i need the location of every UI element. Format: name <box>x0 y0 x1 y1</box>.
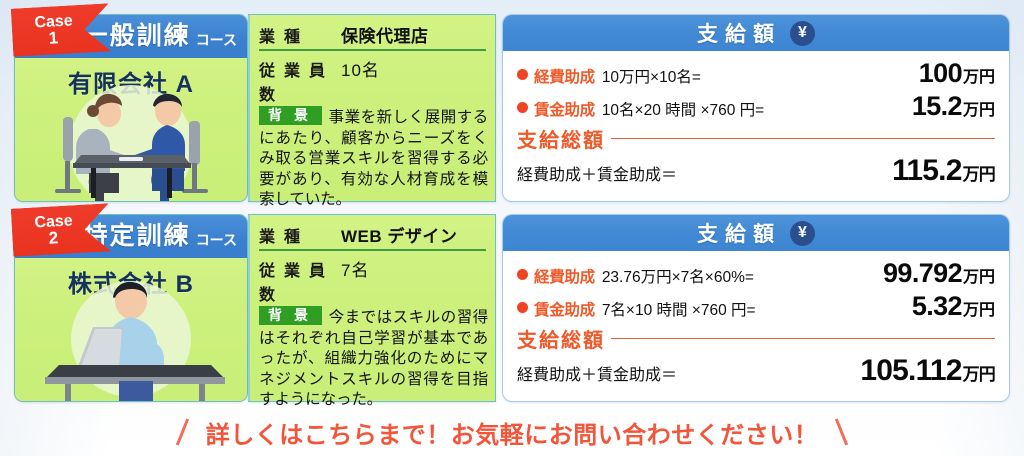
course-suffix: コース <box>196 30 237 50</box>
payment-row-amount: 5.32万円 <box>912 291 995 322</box>
amount-unit: 万円 <box>963 102 995 119</box>
footer-callout: 詳しくはこちらまで！お気軽にお問い合わせください！ <box>0 412 1024 452</box>
bullet-dot-icon <box>517 102 528 113</box>
payment-row-label: 経費助成 <box>534 65 595 87</box>
total-title: 支給総額 <box>517 124 605 153</box>
payment-row-amount: 15.2万円 <box>912 91 995 122</box>
background-badge: 背景 <box>259 106 322 125</box>
case-ribbon-1: Case 1 <box>11 3 112 56</box>
total-title: 支給総額 <box>517 324 605 353</box>
payment-row-label: 賃金助成 <box>534 98 595 120</box>
industry-label: 業種 <box>259 223 335 247</box>
employees-label: 従業員数 <box>259 257 335 305</box>
bullet-dot-icon <box>517 69 528 80</box>
case-card-1: Case 1 一般訓練 コース 有限会社 A <box>14 14 1010 202</box>
employees-row: 従業員数 7名 <box>257 254 488 306</box>
course-suffix: コース <box>196 230 237 250</box>
payment-row: 経費助成 23.76万円×7名×60%= 99.792万円 <box>517 258 995 289</box>
ribbon-shape: Case 2 <box>11 203 112 256</box>
payment-body: 経費助成 23.76万円×7名×60%= 99.792万円 賃金助成 7名×10… <box>503 251 1009 392</box>
total-amount: 105.112万円 <box>860 354 995 388</box>
payment-row: 経費助成 10万円×10名= 100万円 <box>517 58 995 89</box>
bullet-dot-icon <box>517 302 528 313</box>
payment-row-formula: 23.76万円×7名×60%= <box>602 265 883 287</box>
yen-symbol-icon: ¥ <box>790 21 815 46</box>
total-amount-number: 105.112 <box>860 354 961 387</box>
case-1-payment-panel: 支給額 ¥ 経費助成 10万円×10名= 100万円 賃金助成 10名×20 時… <box>502 14 1010 202</box>
payment-row-formula: 10名×20 時間 ×760 円= <box>602 98 912 120</box>
payment-row-amount: 100万円 <box>919 58 995 89</box>
payment-row-formula: 7名×10 時間 ×760 円= <box>602 298 912 320</box>
payment-row-amount: 99.792万円 <box>883 258 995 289</box>
amount-number: 99.792 <box>883 258 962 288</box>
total-header: 支給総額 <box>517 124 995 153</box>
amount-unit: 万円 <box>963 269 995 286</box>
employees-label: 従業員数 <box>259 57 335 105</box>
case-2-info-panel: 業種 WEB デザイン 従業員数 7名 背景今まではスキルの習得はそれぞれ自己学… <box>248 214 496 402</box>
payment-row-formula: 10万円×10名= <box>602 65 919 87</box>
industry-label: 業種 <box>259 23 335 47</box>
payment-header-title: 支給額 <box>697 218 781 248</box>
amount-unit: 万円 <box>963 302 995 319</box>
yen-symbol-icon: ¥ <box>790 221 815 246</box>
payment-header: 支給額 ¥ <box>503 215 1009 251</box>
total-row: 経費助成＋賃金助成＝ 105.112万円 <box>517 354 995 388</box>
industry-value: 保険代理店 <box>341 22 429 47</box>
employees-row: 従業員数 10名 <box>257 54 488 106</box>
case-2-company-area: 株式会社 B <box>15 258 247 401</box>
industry-value: WEB デザイン <box>341 222 457 247</box>
decorative-slash-right-icon <box>835 419 848 446</box>
payment-row: 賃金助成 10名×20 時間 ×760 円= 15.2万円 <box>517 91 995 122</box>
case-ribbon-2: Case 2 <box>11 203 112 256</box>
total-rule <box>611 338 995 340</box>
total-amount-unit: 万円 <box>963 365 995 384</box>
bullet-dot-icon <box>517 269 528 280</box>
employees-value: 10名 <box>341 56 380 81</box>
industry-row: 業種 保険代理店 <box>257 20 488 48</box>
decorative-slash-left-icon <box>176 419 189 446</box>
ribbon-number: 2 <box>48 229 58 247</box>
amount-unit: 万円 <box>963 69 995 86</box>
case-1-info-panel: 業種 保険代理店 従業員数 10名 背景事業を新しく展開するにあたり、顧客からニ… <box>248 14 496 202</box>
total-header: 支給総額 <box>517 324 995 353</box>
employees-value: 7名 <box>341 256 369 281</box>
total-rule <box>611 138 995 140</box>
background-badge: 背景 <box>259 306 322 325</box>
total-formula: 経費助成＋賃金助成＝ <box>517 361 860 385</box>
ribbon-shape: Case 1 <box>11 3 112 56</box>
two-people-meeting-illustration <box>15 69 247 201</box>
background-block: 背景事業を新しく展開するにあたり、顧客からニーズをくみ取る営業スキルを習得する必… <box>257 106 488 211</box>
case-2-payment-panel: 支給額 ¥ 経費助成 23.76万円×7名×60%= 99.792万円 賃金助成… <box>502 214 1010 402</box>
info-divider-rule <box>259 249 486 251</box>
background-block: 背景今まではスキルの習得はそれぞれ自己学習が基本であったが、組織力強化のためにマ… <box>257 306 488 411</box>
amount-number: 100 <box>919 58 962 88</box>
payment-header-title: 支給額 <box>697 18 781 48</box>
case-1-company-area: 有限会社 A <box>15 58 247 201</box>
amount-number: 15.2 <box>912 91 962 121</box>
total-row: 経費助成＋賃金助成＝ 115.2万円 <box>517 154 995 188</box>
case-card-2: Case 2 特定訓練 コース 株式会社 B <box>14 214 1010 402</box>
footer-text: 詳しくはこちらまで！お気軽にお問い合わせください！ <box>206 415 819 450</box>
payment-row-label: 経費助成 <box>534 265 595 287</box>
person-at-laptop-illustration <box>15 269 247 401</box>
amount-number: 5.32 <box>912 291 962 321</box>
total-amount: 115.2万円 <box>892 154 995 188</box>
payment-header: 支給額 ¥ <box>503 15 1009 51</box>
payment-body: 経費助成 10万円×10名= 100万円 賃金助成 10名×20 時間 ×760… <box>503 51 1009 192</box>
info-divider-rule <box>259 49 486 51</box>
total-amount-number: 115.2 <box>892 154 961 187</box>
ribbon-number: 1 <box>48 29 58 47</box>
total-amount-unit: 万円 <box>963 165 995 184</box>
payment-row: 賃金助成 7名×10 時間 ×760 円= 5.32万円 <box>517 291 995 322</box>
payment-row-label: 賃金助成 <box>534 298 595 320</box>
total-formula: 経費助成＋賃金助成＝ <box>517 161 892 185</box>
industry-row: 業種 WEB デザイン <box>257 220 488 248</box>
